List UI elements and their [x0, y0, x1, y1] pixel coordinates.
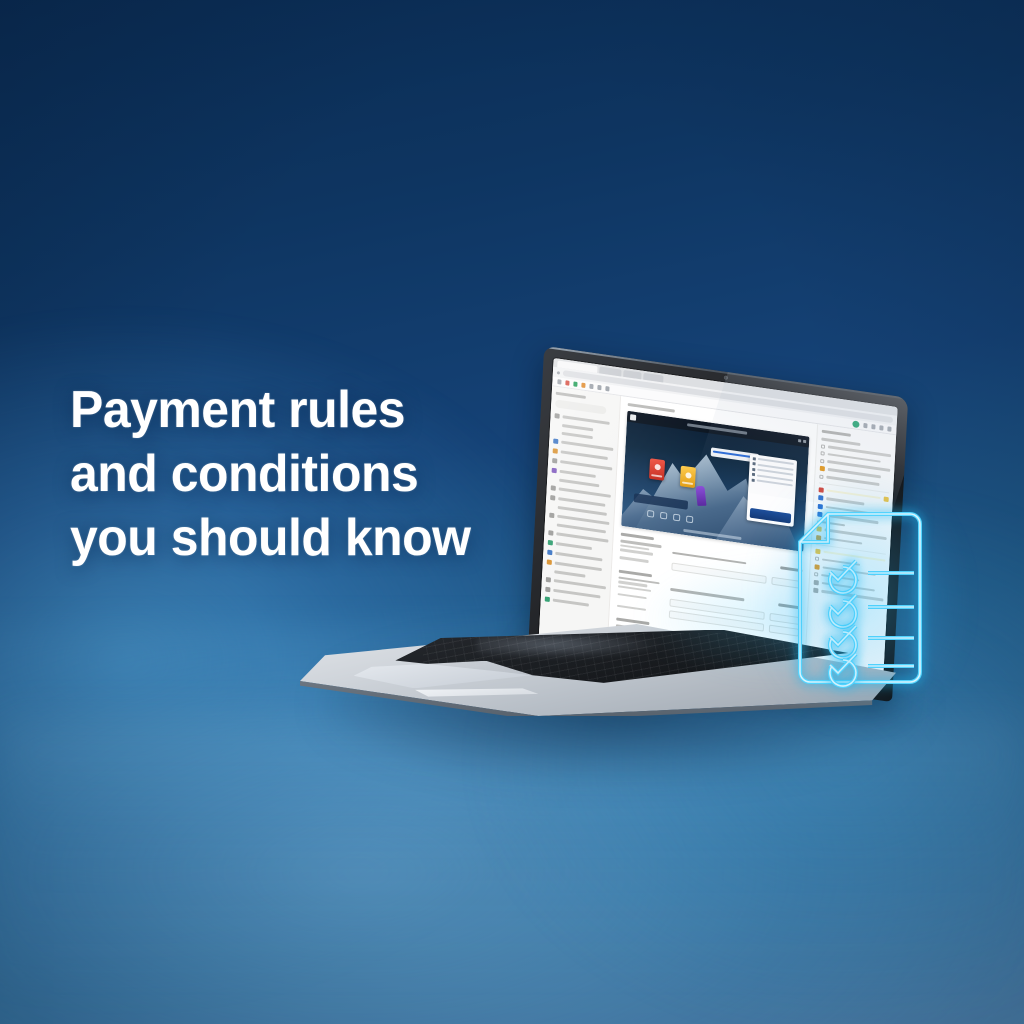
extension-icon[interactable]	[863, 423, 867, 428]
share-icon[interactable]	[879, 425, 883, 430]
close-icon	[803, 440, 806, 443]
search-input[interactable]	[555, 399, 607, 414]
image-icon[interactable]	[589, 384, 593, 389]
back-icon[interactable]	[557, 371, 560, 374]
highlight-icon[interactable]	[573, 381, 577, 386]
avatar[interactable]	[852, 420, 859, 428]
warning-icon	[820, 466, 825, 472]
list-icon	[752, 462, 755, 465]
bold-icon[interactable]	[557, 379, 561, 384]
star-icon	[553, 448, 558, 454]
right-panel-title	[822, 430, 852, 437]
list-icon	[752, 473, 755, 476]
feature-icon	[673, 514, 680, 522]
page-title: Payment rules and conditions you should …	[70, 378, 540, 570]
users-icon	[551, 485, 556, 491]
section-heading	[621, 533, 654, 541]
list-icon[interactable]	[597, 385, 601, 390]
checkbox-icon[interactable]	[820, 451, 824, 455]
settings-icon	[548, 540, 553, 546]
card-icon	[547, 559, 552, 565]
bell-icon	[547, 550, 552, 556]
archive-icon	[548, 530, 553, 536]
headline-line-3: you should know	[70, 506, 521, 570]
trash-icon	[545, 587, 550, 593]
checkbox-icon[interactable]	[820, 458, 824, 462]
table-icon[interactable]	[605, 386, 609, 391]
headline-line-2: and conditions	[70, 442, 521, 506]
list-icon	[752, 468, 755, 471]
chart-icon	[550, 495, 555, 501]
brand-logo-icon	[630, 414, 636, 421]
keyboard-shine	[477, 635, 667, 660]
feature-icon	[660, 512, 667, 520]
bookmark-icon[interactable]	[871, 424, 875, 429]
list-icon	[752, 457, 755, 460]
badge-gold	[680, 466, 696, 489]
folder-icon	[553, 438, 558, 444]
headline-line-1: Payment rules	[70, 378, 521, 442]
window-controls	[798, 439, 806, 443]
poster-canvas: Payment rules and conditions you should …	[0, 0, 1024, 1024]
minimize-icon	[798, 439, 801, 442]
checklist-document-icon	[792, 508, 928, 690]
webcam-icon	[724, 375, 728, 379]
clock-icon	[552, 458, 557, 464]
home-icon	[554, 413, 559, 419]
tag-icon	[552, 468, 557, 474]
checkbox-icon[interactable]	[821, 444, 825, 448]
neon-light-bleed	[642, 558, 812, 678]
list-icon	[751, 479, 754, 482]
italic-icon[interactable]	[565, 380, 569, 385]
shield-icon	[546, 577, 551, 583]
climber-figure	[695, 486, 706, 506]
link-icon[interactable]	[581, 383, 585, 388]
sidebar-title	[556, 392, 586, 399]
feature-icon	[647, 510, 654, 518]
feature-icon	[686, 516, 693, 524]
menu-icon[interactable]	[887, 426, 891, 431]
badge-red	[649, 458, 665, 481]
report-icon	[549, 513, 554, 519]
help-icon	[545, 596, 550, 602]
